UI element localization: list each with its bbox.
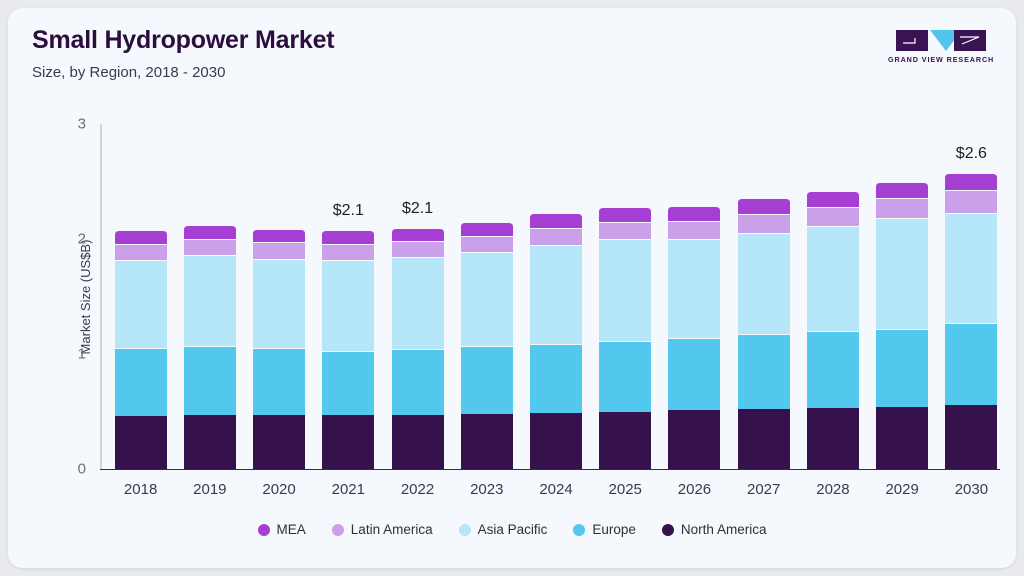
y-axis-tick: 2 — [78, 231, 86, 248]
bar-segment-europe[interactable] — [392, 349, 444, 415]
chart-screenshot: Small Hydropower Market Size, by Region,… — [0, 0, 1024, 576]
bar-segment-asia-pacific[interactable] — [530, 245, 582, 344]
bar-group[interactable] — [945, 173, 997, 469]
bar-segment-asia-pacific[interactable] — [876, 218, 928, 328]
bar-segment-europe[interactable] — [945, 323, 997, 405]
bar-group[interactable] — [322, 230, 374, 469]
bar-segment-mea[interactable] — [530, 213, 582, 228]
bar-segment-mea[interactable] — [115, 230, 167, 244]
bar-segment-asia-pacific[interactable] — [115, 260, 167, 349]
bar-group[interactable] — [530, 213, 582, 469]
y-axis-tick: 0 — [78, 461, 86, 478]
x-axis-tick: 2027 — [747, 481, 780, 498]
bar-segment-europe[interactable] — [184, 346, 236, 415]
bar-segment-north-america[interactable] — [738, 409, 790, 469]
bar-group[interactable] — [876, 182, 928, 469]
bar-segment-latin-america[interactable] — [876, 198, 928, 219]
bar-value-label: $2.1 — [333, 202, 364, 220]
logo-g-square-icon — [896, 30, 928, 51]
bar-segment-europe[interactable] — [461, 346, 513, 414]
legend-swatch-icon — [332, 524, 344, 536]
x-axis-tick: 2018 — [124, 481, 157, 498]
x-axis-tick: 2026 — [678, 481, 711, 498]
bar-group[interactable] — [184, 225, 236, 469]
grand-view-research-logo: GRAND VIEW RESEARCH — [888, 30, 994, 66]
bar-segment-mea[interactable] — [322, 230, 374, 244]
legend-label: Europe — [592, 522, 636, 537]
bar-segment-mea[interactable] — [599, 207, 651, 222]
bar-segment-europe[interactable] — [530, 344, 582, 413]
bar-segment-latin-america[interactable] — [322, 244, 374, 260]
bar-segment-latin-america[interactable] — [738, 214, 790, 234]
bar-segment-north-america[interactable] — [461, 414, 513, 469]
chart-legend: MEALatin AmericaAsia PacificEuropeNorth … — [8, 522, 1016, 537]
bar-segment-latin-america[interactable] — [115, 244, 167, 260]
bar-segment-asia-pacific[interactable] — [184, 255, 236, 346]
x-axis-tick: 2030 — [955, 481, 988, 498]
legend-item-asia-pacific[interactable]: Asia Pacific — [459, 522, 548, 537]
legend-label: Latin America — [351, 522, 433, 537]
bar-group[interactable] — [115, 230, 167, 469]
bar-segment-mea[interactable] — [876, 182, 928, 198]
page-subtitle: Size, by Region, 2018 - 2030 — [32, 64, 225, 81]
legend-swatch-icon — [258, 524, 270, 536]
bar-segment-asia-pacific[interactable] — [668, 239, 720, 338]
legend-item-latin-america[interactable]: Latin America — [332, 522, 433, 537]
bar-group[interactable] — [392, 228, 444, 469]
legend-label: MEA — [277, 522, 306, 537]
bar-segment-europe[interactable] — [738, 334, 790, 409]
bar-segment-north-america[interactable] — [876, 407, 928, 469]
bar-segment-north-america[interactable] — [392, 415, 444, 469]
bar-segment-asia-pacific[interactable] — [738, 233, 790, 334]
x-axis-tick: 2029 — [885, 481, 918, 498]
bar-segment-europe[interactable] — [668, 338, 720, 410]
bar-segment-north-america[interactable] — [115, 416, 167, 469]
bar-group[interactable] — [461, 222, 513, 469]
bar-chart-plot-area: Market Size (US$B) 0123 $2.1$2.1$2.6 201… — [100, 124, 1000, 469]
legend-swatch-icon — [662, 524, 674, 536]
y-axis-label: Market Size (US$B) — [78, 239, 93, 354]
bar-segment-north-america[interactable] — [184, 415, 236, 469]
x-axis-tick: 2019 — [193, 481, 226, 498]
bar-segment-latin-america[interactable] — [461, 236, 513, 252]
bar-segment-europe[interactable] — [807, 331, 859, 408]
bar-segment-asia-pacific[interactable] — [807, 226, 859, 331]
y-axis-tick: 3 — [78, 116, 86, 133]
bar-segment-asia-pacific[interactable] — [461, 252, 513, 346]
bar-value-label: $2.6 — [956, 145, 987, 163]
legend-label: North America — [681, 522, 767, 537]
bar-segment-mea[interactable] — [668, 206, 720, 221]
bar-segment-latin-america[interactable] — [184, 239, 236, 255]
bar-segment-mea[interactable] — [253, 229, 305, 243]
bar-segment-mea[interactable] — [945, 173, 997, 189]
bar-group[interactable] — [738, 198, 790, 469]
chart-card: Small Hydropower Market Size, by Region,… — [8, 8, 1016, 568]
bar-group[interactable] — [807, 191, 859, 469]
bar-segment-mea[interactable] — [738, 198, 790, 214]
bar-group[interactable] — [253, 229, 305, 469]
bar-group[interactable] — [599, 207, 651, 469]
bar-segment-mea[interactable] — [184, 225, 236, 239]
bar-segment-europe[interactable] — [253, 348, 305, 415]
logo-r-square-icon — [954, 30, 986, 51]
bar-segment-europe[interactable] — [876, 329, 928, 407]
bar-segment-latin-america[interactable] — [599, 222, 651, 239]
x-axis-tick: 2022 — [401, 481, 434, 498]
logo-mark — [888, 30, 994, 52]
bar-segment-asia-pacific[interactable] — [253, 259, 305, 349]
bar-segment-north-america[interactable] — [322, 415, 374, 469]
legend-item-north-america[interactable]: North America — [662, 522, 767, 537]
page-title: Small Hydropower Market — [32, 26, 334, 55]
bar-segment-asia-pacific[interactable] — [599, 239, 651, 341]
y-axis-tick: 1 — [78, 346, 86, 363]
legend-item-europe[interactable]: Europe — [573, 522, 636, 537]
x-axis-tick: 2021 — [332, 481, 365, 498]
bar-segment-latin-america[interactable] — [807, 207, 859, 227]
bar-segment-latin-america[interactable] — [530, 228, 582, 245]
legend-swatch-icon — [573, 524, 585, 536]
x-axis-tick: 2028 — [816, 481, 849, 498]
bar-segment-europe[interactable] — [322, 351, 374, 415]
bar-segment-north-america[interactable] — [807, 408, 859, 469]
x-axis-tick: 2024 — [539, 481, 572, 498]
bar-segment-north-america[interactable] — [668, 410, 720, 469]
bar-segment-latin-america[interactable] — [392, 241, 444, 257]
bar-segment-europe[interactable] — [599, 341, 651, 411]
legend-swatch-icon — [459, 524, 471, 536]
bar-segment-asia-pacific[interactable] — [322, 260, 374, 351]
x-axis-tick: 2025 — [609, 481, 642, 498]
bar-segment-north-america[interactable] — [945, 405, 997, 469]
bar-segment-mea[interactable] — [807, 191, 859, 207]
bar-segment-latin-america[interactable] — [945, 190, 997, 213]
bar-segment-north-america[interactable] — [253, 415, 305, 469]
bar-segment-latin-america[interactable] — [253, 242, 305, 258]
x-axis-tick: 2020 — [262, 481, 295, 498]
bar-segment-north-america[interactable] — [530, 413, 582, 469]
bar-segment-asia-pacific[interactable] — [945, 213, 997, 323]
bar-segment-europe[interactable] — [115, 348, 167, 416]
bar-segment-mea[interactable] — [392, 228, 444, 242]
x-axis-tick: 2023 — [470, 481, 503, 498]
legend-item-mea[interactable]: MEA — [258, 522, 306, 537]
legend-label: Asia Pacific — [478, 522, 548, 537]
y-axis-line — [100, 124, 102, 469]
bar-group[interactable] — [668, 206, 720, 469]
bar-segment-north-america[interactable] — [599, 412, 651, 470]
bar-segment-asia-pacific[interactable] — [392, 257, 444, 349]
bar-segment-mea[interactable] — [461, 222, 513, 236]
bar-value-label: $2.1 — [402, 200, 433, 218]
bar-segment-latin-america[interactable] — [668, 221, 720, 239]
logo-wordmark: GRAND VIEW RESEARCH — [888, 55, 994, 64]
